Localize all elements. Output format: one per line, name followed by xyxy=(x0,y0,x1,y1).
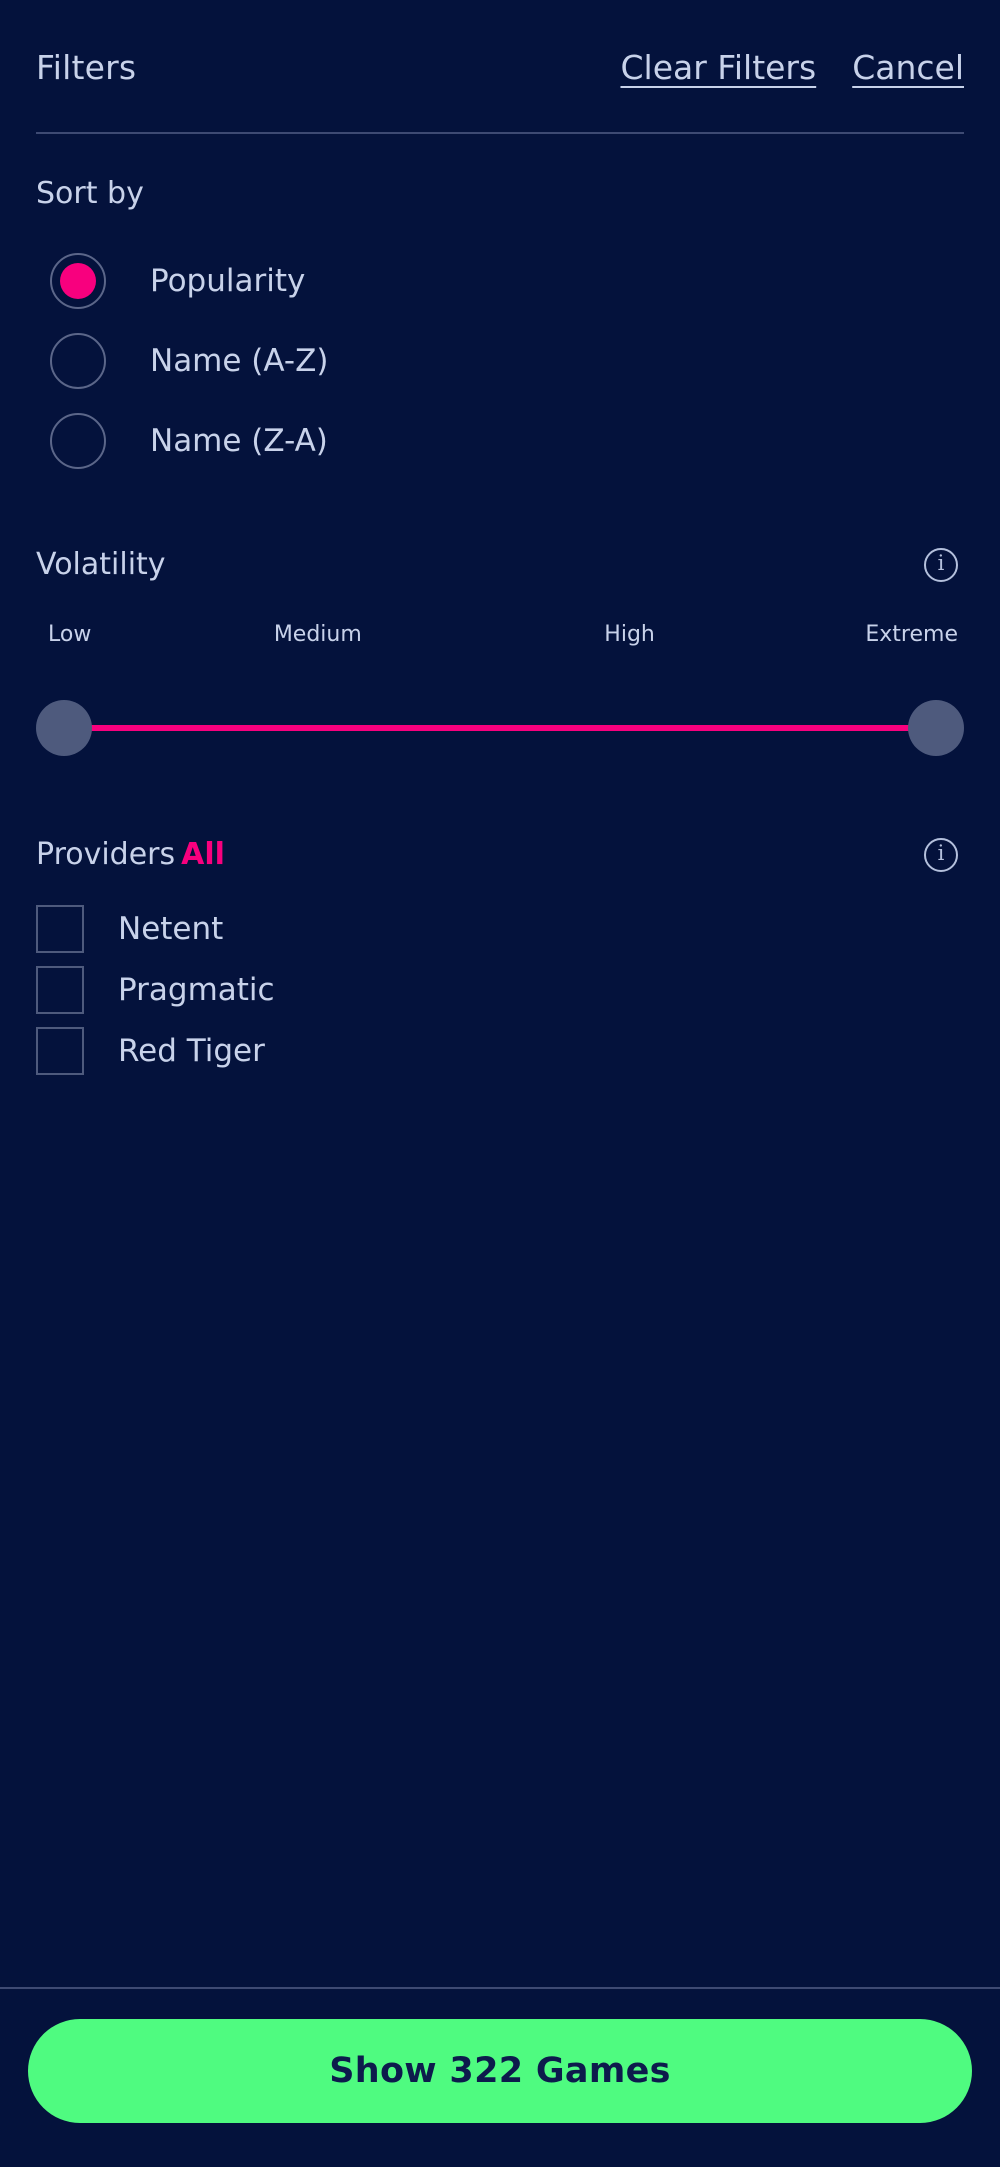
radio-selected-dot xyxy=(60,423,96,459)
slider-handle-max[interactable] xyxy=(908,700,964,756)
provider-option-red-tiger[interactable]: Red Tiger xyxy=(36,1020,964,1081)
volatility-slider: Low Medium High Extreme xyxy=(36,622,964,771)
radio-icon[interactable] xyxy=(50,333,106,389)
provider-label: Netent xyxy=(118,911,223,947)
volatility-header: Volatility i xyxy=(36,547,964,582)
slider-handle-min[interactable] xyxy=(36,700,92,756)
providers-title-label: Providers xyxy=(36,837,175,872)
sort-option-label: Name (Z-A) xyxy=(150,423,328,459)
header-actions: Clear Filters Cancel xyxy=(620,48,964,87)
volatility-slider-track[interactable] xyxy=(36,685,964,771)
volatility-tick-medium: Medium xyxy=(274,622,362,647)
clear-filters-link[interactable]: Clear Filters xyxy=(620,48,816,87)
checkbox-icon[interactable] xyxy=(36,1027,84,1075)
info-icon[interactable]: i xyxy=(924,548,958,582)
radio-icon[interactable] xyxy=(50,253,106,309)
checkbox-icon[interactable] xyxy=(36,905,84,953)
radio-icon[interactable] xyxy=(50,413,106,469)
volatility-tick-labels: Low Medium High Extreme xyxy=(36,622,964,647)
sort-option-name-az[interactable]: Name (A-Z) xyxy=(36,321,964,401)
providers-title: ProvidersAll xyxy=(36,837,225,872)
page-title: Filters xyxy=(36,48,136,87)
provider-label: Red Tiger xyxy=(118,1033,265,1069)
checkbox-icon[interactable] xyxy=(36,966,84,1014)
providers-header: ProvidersAll i xyxy=(36,837,964,872)
radio-selected-dot xyxy=(60,343,96,379)
slider-active-rail xyxy=(64,725,936,731)
sort-by-radio-group: Popularity Name (A-Z) Name (Z-A) xyxy=(36,241,964,481)
filters-body: Sort by Popularity Name (A-Z) Name (Z-A) xyxy=(0,134,1000,1987)
sort-by-title: Sort by xyxy=(36,176,964,211)
providers-checkbox-group: Netent Pragmatic Red Tiger xyxy=(36,898,964,1081)
sort-option-label: Popularity xyxy=(150,263,305,299)
radio-selected-dot xyxy=(60,263,96,299)
filters-header: Filters Clear Filters Cancel xyxy=(0,0,1000,134)
provider-option-netent[interactable]: Netent xyxy=(36,898,964,959)
info-icon[interactable]: i xyxy=(924,838,958,872)
filters-footer: Show 322 Games xyxy=(0,1987,1000,2167)
filters-panel: Filters Clear Filters Cancel Sort by Pop… xyxy=(0,0,1000,2167)
volatility-tick-extreme: Extreme xyxy=(865,622,958,647)
sort-option-name-za[interactable]: Name (Z-A) xyxy=(36,401,964,481)
provider-option-pragmatic[interactable]: Pragmatic xyxy=(36,959,964,1020)
volatility-tick-low: Low xyxy=(48,622,91,647)
providers-all-badge[interactable]: All xyxy=(181,837,225,872)
provider-label: Pragmatic xyxy=(118,972,275,1008)
cancel-link[interactable]: Cancel xyxy=(852,48,964,87)
sort-option-label: Name (A-Z) xyxy=(150,343,328,379)
sort-option-popularity[interactable]: Popularity xyxy=(36,241,964,321)
volatility-title: Volatility xyxy=(36,547,166,582)
show-games-button[interactable]: Show 322 Games xyxy=(28,2019,972,2123)
volatility-tick-high: High xyxy=(604,622,655,647)
